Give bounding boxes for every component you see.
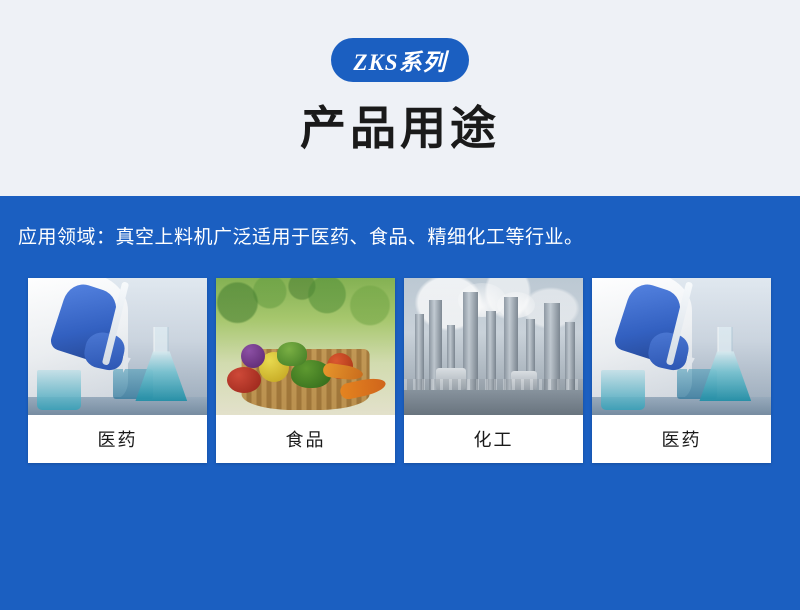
flask-shape — [699, 327, 751, 401]
flask-body-shape — [135, 351, 187, 401]
flask-body-shape — [699, 351, 751, 401]
laboratory-photo — [28, 278, 207, 415]
beaker-shape — [37, 370, 81, 410]
vegetables-photo — [216, 278, 395, 415]
cabbage-shape — [277, 342, 307, 366]
application-card: 医药 — [592, 278, 771, 463]
chemical-plant-photo — [404, 278, 583, 415]
application-card-label: 化工 — [404, 415, 583, 463]
application-card: 化工 — [404, 278, 583, 463]
distillation-tower-shape — [544, 303, 560, 391]
series-badge: ZKS系列 — [331, 38, 468, 82]
pipe-rack-shape — [404, 379, 583, 390]
tomato-shape — [227, 367, 261, 393]
beaker-shape — [601, 370, 645, 410]
application-card-label: 食品 — [216, 415, 395, 463]
application-caption: 应用领域：真空上料机广泛适用于医药、食品、精细化工等行业。 — [18, 222, 584, 249]
laboratory-photo — [592, 278, 771, 415]
application-card: 食品 — [216, 278, 395, 463]
application-card-label: 医药 — [28, 415, 207, 463]
flask-neck-shape — [154, 327, 169, 355]
page-header: ZKS系列 产品用途 — [0, 0, 800, 196]
application-card: 医药 — [28, 278, 207, 463]
product-usage-page: ZKS系列 产品用途 应用领域：真空上料机广泛适用于医药、食品、精细化工等行业。 — [0, 0, 800, 610]
ground-shape — [404, 390, 583, 415]
page-title: 产品用途 — [300, 102, 500, 155]
application-card-label: 医药 — [592, 415, 771, 463]
application-panel: 应用领域：真空上料机广泛适用于医药、食品、精细化工等行业。 — [0, 196, 800, 610]
application-card-list: 医药 食品 — [28, 278, 772, 463]
flask-shape — [135, 327, 187, 401]
flask-neck-shape — [718, 327, 733, 355]
